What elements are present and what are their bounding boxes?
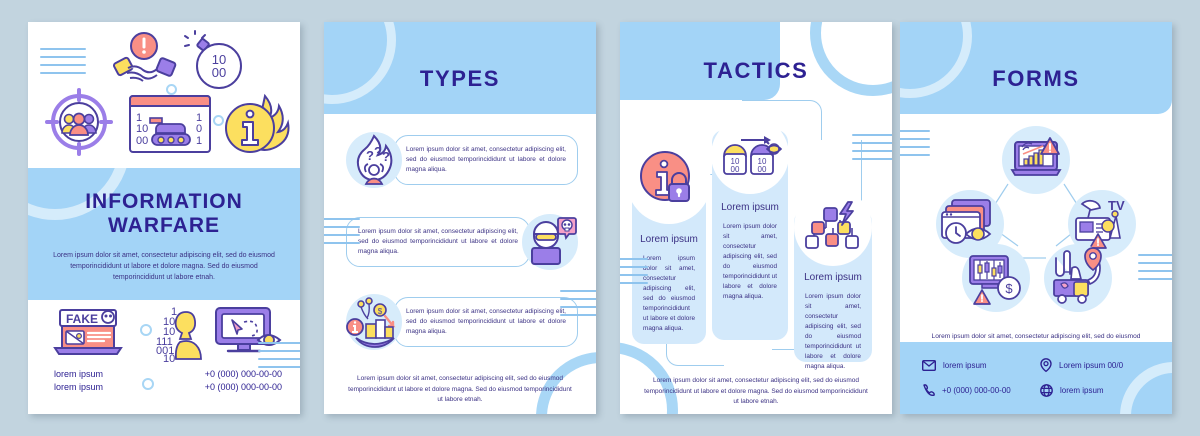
decor-lines-tactics-left bbox=[620, 258, 648, 290]
forms-contact-list: lorem ipsum Lorem ipsum 00/0 +0 (000) 00… bbox=[922, 358, 1158, 397]
cover-title: INFORMATION WARFARE bbox=[40, 190, 288, 238]
decor-circle-1 bbox=[166, 84, 177, 95]
svg-text:$: $ bbox=[1005, 281, 1013, 296]
svg-text:10: 10 bbox=[163, 353, 175, 365]
target-people-icon bbox=[45, 88, 113, 156]
cover-title-line1: INFORMATION bbox=[85, 190, 243, 213]
types-panel: TYPES ? ? ? Lorem ipsum dolor sit amet, … bbox=[324, 22, 596, 414]
info-lock-icon bbox=[627, 140, 711, 224]
contact-location[interactable]: Lorem ipsum 00/0 bbox=[1040, 358, 1158, 372]
contact-website-label: lorem ipsum bbox=[1060, 386, 1104, 395]
tactics-header-title: TACTICS bbox=[620, 58, 892, 84]
types-row-1: ? ? ? Lorem ipsum dolor sit amet, consec… bbox=[346, 132, 578, 188]
svg-text:?: ? bbox=[366, 148, 374, 163]
svg-text:$: $ bbox=[378, 307, 383, 316]
brochure-layout: 10 00 1 10 bbox=[0, 0, 1200, 436]
decor-lines-top-left bbox=[40, 48, 86, 80]
types-row-3: $ Lorem ipsum dolor sit amet, consectetu… bbox=[346, 294, 578, 350]
fake-news-laptop-icon: FAKE bbox=[52, 308, 126, 360]
svg-text:FAKE: FAKE bbox=[66, 312, 98, 326]
tactics-card-2-body: Lorem ipsum dolor sit amet, consectetur … bbox=[723, 222, 777, 302]
laptop-chart-alert-icon bbox=[1002, 126, 1070, 194]
phone-icon bbox=[922, 384, 935, 397]
svg-text:00: 00 bbox=[136, 135, 148, 147]
cover-panel: 10 00 1 10 bbox=[28, 22, 300, 414]
data-transfer-icon: 10 00 10 00 bbox=[711, 116, 789, 194]
tactics-card-3[interactable]: Lorem ipsum Lorem ipsum dolor sit amet, … bbox=[794, 210, 872, 362]
footer-right-line2: +0 (000) 000-00-00 bbox=[205, 381, 282, 394]
footer-right-col: +0 (000) 000-00-00 +0 (000) 000-00-00 bbox=[205, 368, 282, 394]
network-bolt-icon bbox=[794, 188, 872, 266]
types-row-2-text: Lorem ipsum dolor sit amet, consectetur … bbox=[346, 217, 530, 267]
tactics-card-3-body: Lorem ipsum dolor sit amet, consectetur … bbox=[805, 292, 861, 372]
svg-text:?: ? bbox=[382, 149, 390, 164]
svg-text:00: 00 bbox=[731, 165, 740, 174]
decor-circle-2 bbox=[213, 115, 224, 126]
svg-text:00: 00 bbox=[212, 65, 226, 80]
propaganda-cart-icon bbox=[1044, 244, 1112, 312]
contact-mail-label: lorem ipsum bbox=[943, 361, 987, 370]
tactics-panel: TACTICS Lorem ipsum Lorem ipsum bbox=[620, 22, 892, 414]
economy-decline-icon: $ bbox=[346, 294, 402, 350]
types-header-title: TYPES bbox=[324, 66, 596, 92]
cover-title-line2: WARFARE bbox=[108, 214, 220, 237]
binary-person-icon: 1 10 10 111 001 10 bbox=[156, 304, 208, 362]
tactics-card-1-title: Lorem ipsum bbox=[638, 234, 700, 245]
contact-website[interactable]: lorem ipsum bbox=[1040, 384, 1158, 397]
tactics-card-1-circle bbox=[627, 140, 711, 224]
stock-dollar-alert-icon: $ bbox=[962, 244, 1030, 312]
tactics-card-2-title: Lorem ipsum bbox=[718, 202, 782, 213]
svg-text:0: 0 bbox=[196, 123, 202, 135]
svg-text:?: ? bbox=[374, 144, 382, 159]
svg-text:10: 10 bbox=[136, 123, 148, 135]
types-bottom-note: Lorem ipsum dolor sit amet, consectetur … bbox=[346, 374, 574, 406]
contact-mail[interactable]: lorem ipsum bbox=[922, 358, 1040, 372]
decor-circle-3 bbox=[140, 324, 152, 336]
forms-panel: FORMS bbox=[900, 22, 1172, 414]
alert-handshake-icon bbox=[108, 32, 180, 92]
cover-title-band: INFORMATION WARFARE Lorem ipsum dolor si… bbox=[28, 168, 300, 300]
tank-binary-screen-icon: 1 10 00 1 0 1 bbox=[128, 94, 212, 156]
cover-subtext: Lorem ipsum dolor sit amet, consectetur … bbox=[52, 250, 276, 283]
footer-left-line2: lorem ipsum bbox=[54, 381, 103, 394]
svg-text:1: 1 bbox=[196, 135, 202, 147]
mail-icon bbox=[922, 360, 936, 371]
types-row-2: Lorem ipsum dolor sit amet, consectetur … bbox=[346, 214, 578, 270]
decor-lines-types-left bbox=[324, 218, 360, 250]
footer-left-line1: lorem ipsum bbox=[54, 368, 103, 381]
cover-footer-contacts: lorem ipsum lorem ipsum +0 (000) 000-00-… bbox=[54, 368, 282, 394]
tactics-card-2-circle: 10 00 10 00 bbox=[711, 116, 789, 194]
svg-text:00: 00 bbox=[758, 165, 767, 174]
forms-contact-band: lorem ipsum Lorem ipsum 00/0 +0 (000) 00… bbox=[900, 342, 1172, 414]
cover-hero-icons: 10 00 1 10 bbox=[28, 22, 300, 168]
contact-phone[interactable]: +0 (000) 000-00-00 bbox=[922, 384, 1040, 397]
types-row-1-text: Lorem ipsum dolor sit amet, consectetur … bbox=[394, 135, 578, 185]
tactics-card-2[interactable]: 10 00 10 00 Lorem ipsum Lorem ipsum dolo… bbox=[712, 130, 788, 340]
decor-lines-tactics-right bbox=[852, 134, 892, 166]
tactics-card-3-circle bbox=[794, 188, 872, 266]
globe-icon bbox=[1040, 384, 1053, 397]
binary-bomb-icon: 10 00 bbox=[183, 30, 247, 92]
types-row-3-text: Lorem ipsum dolor sit amet, consectetur … bbox=[394, 297, 578, 347]
hacker-skull-icon bbox=[522, 214, 578, 270]
panic-fire-icon: ? ? ? bbox=[346, 132, 402, 188]
tactics-card-3-title: Lorem ipsum bbox=[800, 272, 866, 283]
tactics-card-1-body: Lorem ipsum dolor sit amet, consectetur … bbox=[643, 254, 695, 334]
footer-left-col: lorem ipsum lorem ipsum bbox=[54, 368, 103, 394]
decor-lines-types-right bbox=[560, 290, 596, 322]
footer-right-line1: +0 (000) 000-00-00 bbox=[205, 368, 282, 381]
types-header-band: TYPES bbox=[324, 22, 596, 114]
contact-location-label: Lorem ipsum 00/0 bbox=[1059, 361, 1123, 370]
flaming-info-icon bbox=[223, 90, 293, 158]
tactics-bottom-note: Lorem ipsum dolor sit amet, consectetur … bbox=[642, 376, 870, 408]
location-pin-icon bbox=[1040, 358, 1052, 372]
contact-phone-label: +0 (000) 000-00-00 bbox=[942, 386, 1011, 395]
cover-footer: FAKE 1 10 10 111 bbox=[28, 300, 300, 414]
